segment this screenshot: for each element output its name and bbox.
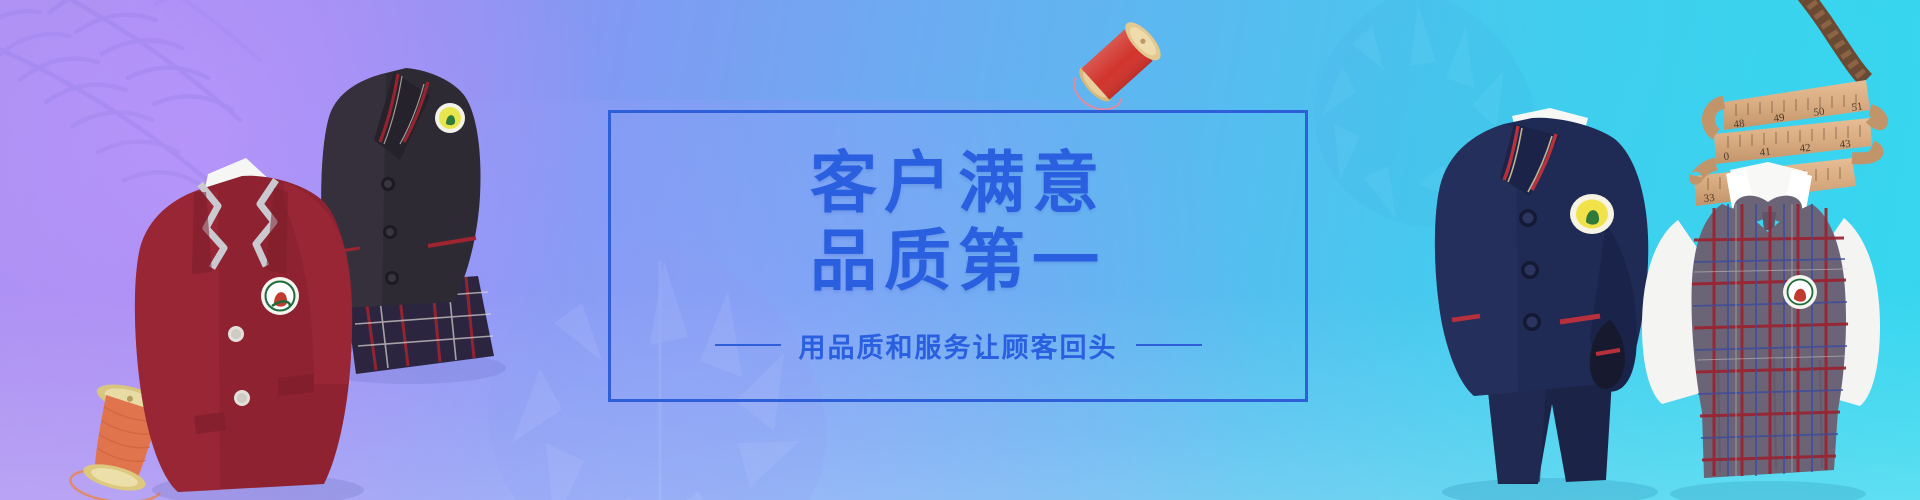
subtitle-rule-left bbox=[715, 344, 781, 346]
headline-line-2: 品质第一 bbox=[810, 225, 1106, 300]
headline-frame: 客户满意 品质第一 用品质和服务让顾客回头 bbox=[608, 110, 1308, 402]
subtitle-rule-right bbox=[1136, 344, 1202, 346]
subtitle-text: 用品质和服务让顾客回头 bbox=[799, 326, 1118, 365]
subtitle-row: 用品质和服务让顾客回头 bbox=[715, 326, 1202, 365]
promo-banner: 48 49 50 51 0 41 42 43 bbox=[0, 0, 1920, 500]
headline-line-1: 客户满意 bbox=[810, 147, 1106, 222]
